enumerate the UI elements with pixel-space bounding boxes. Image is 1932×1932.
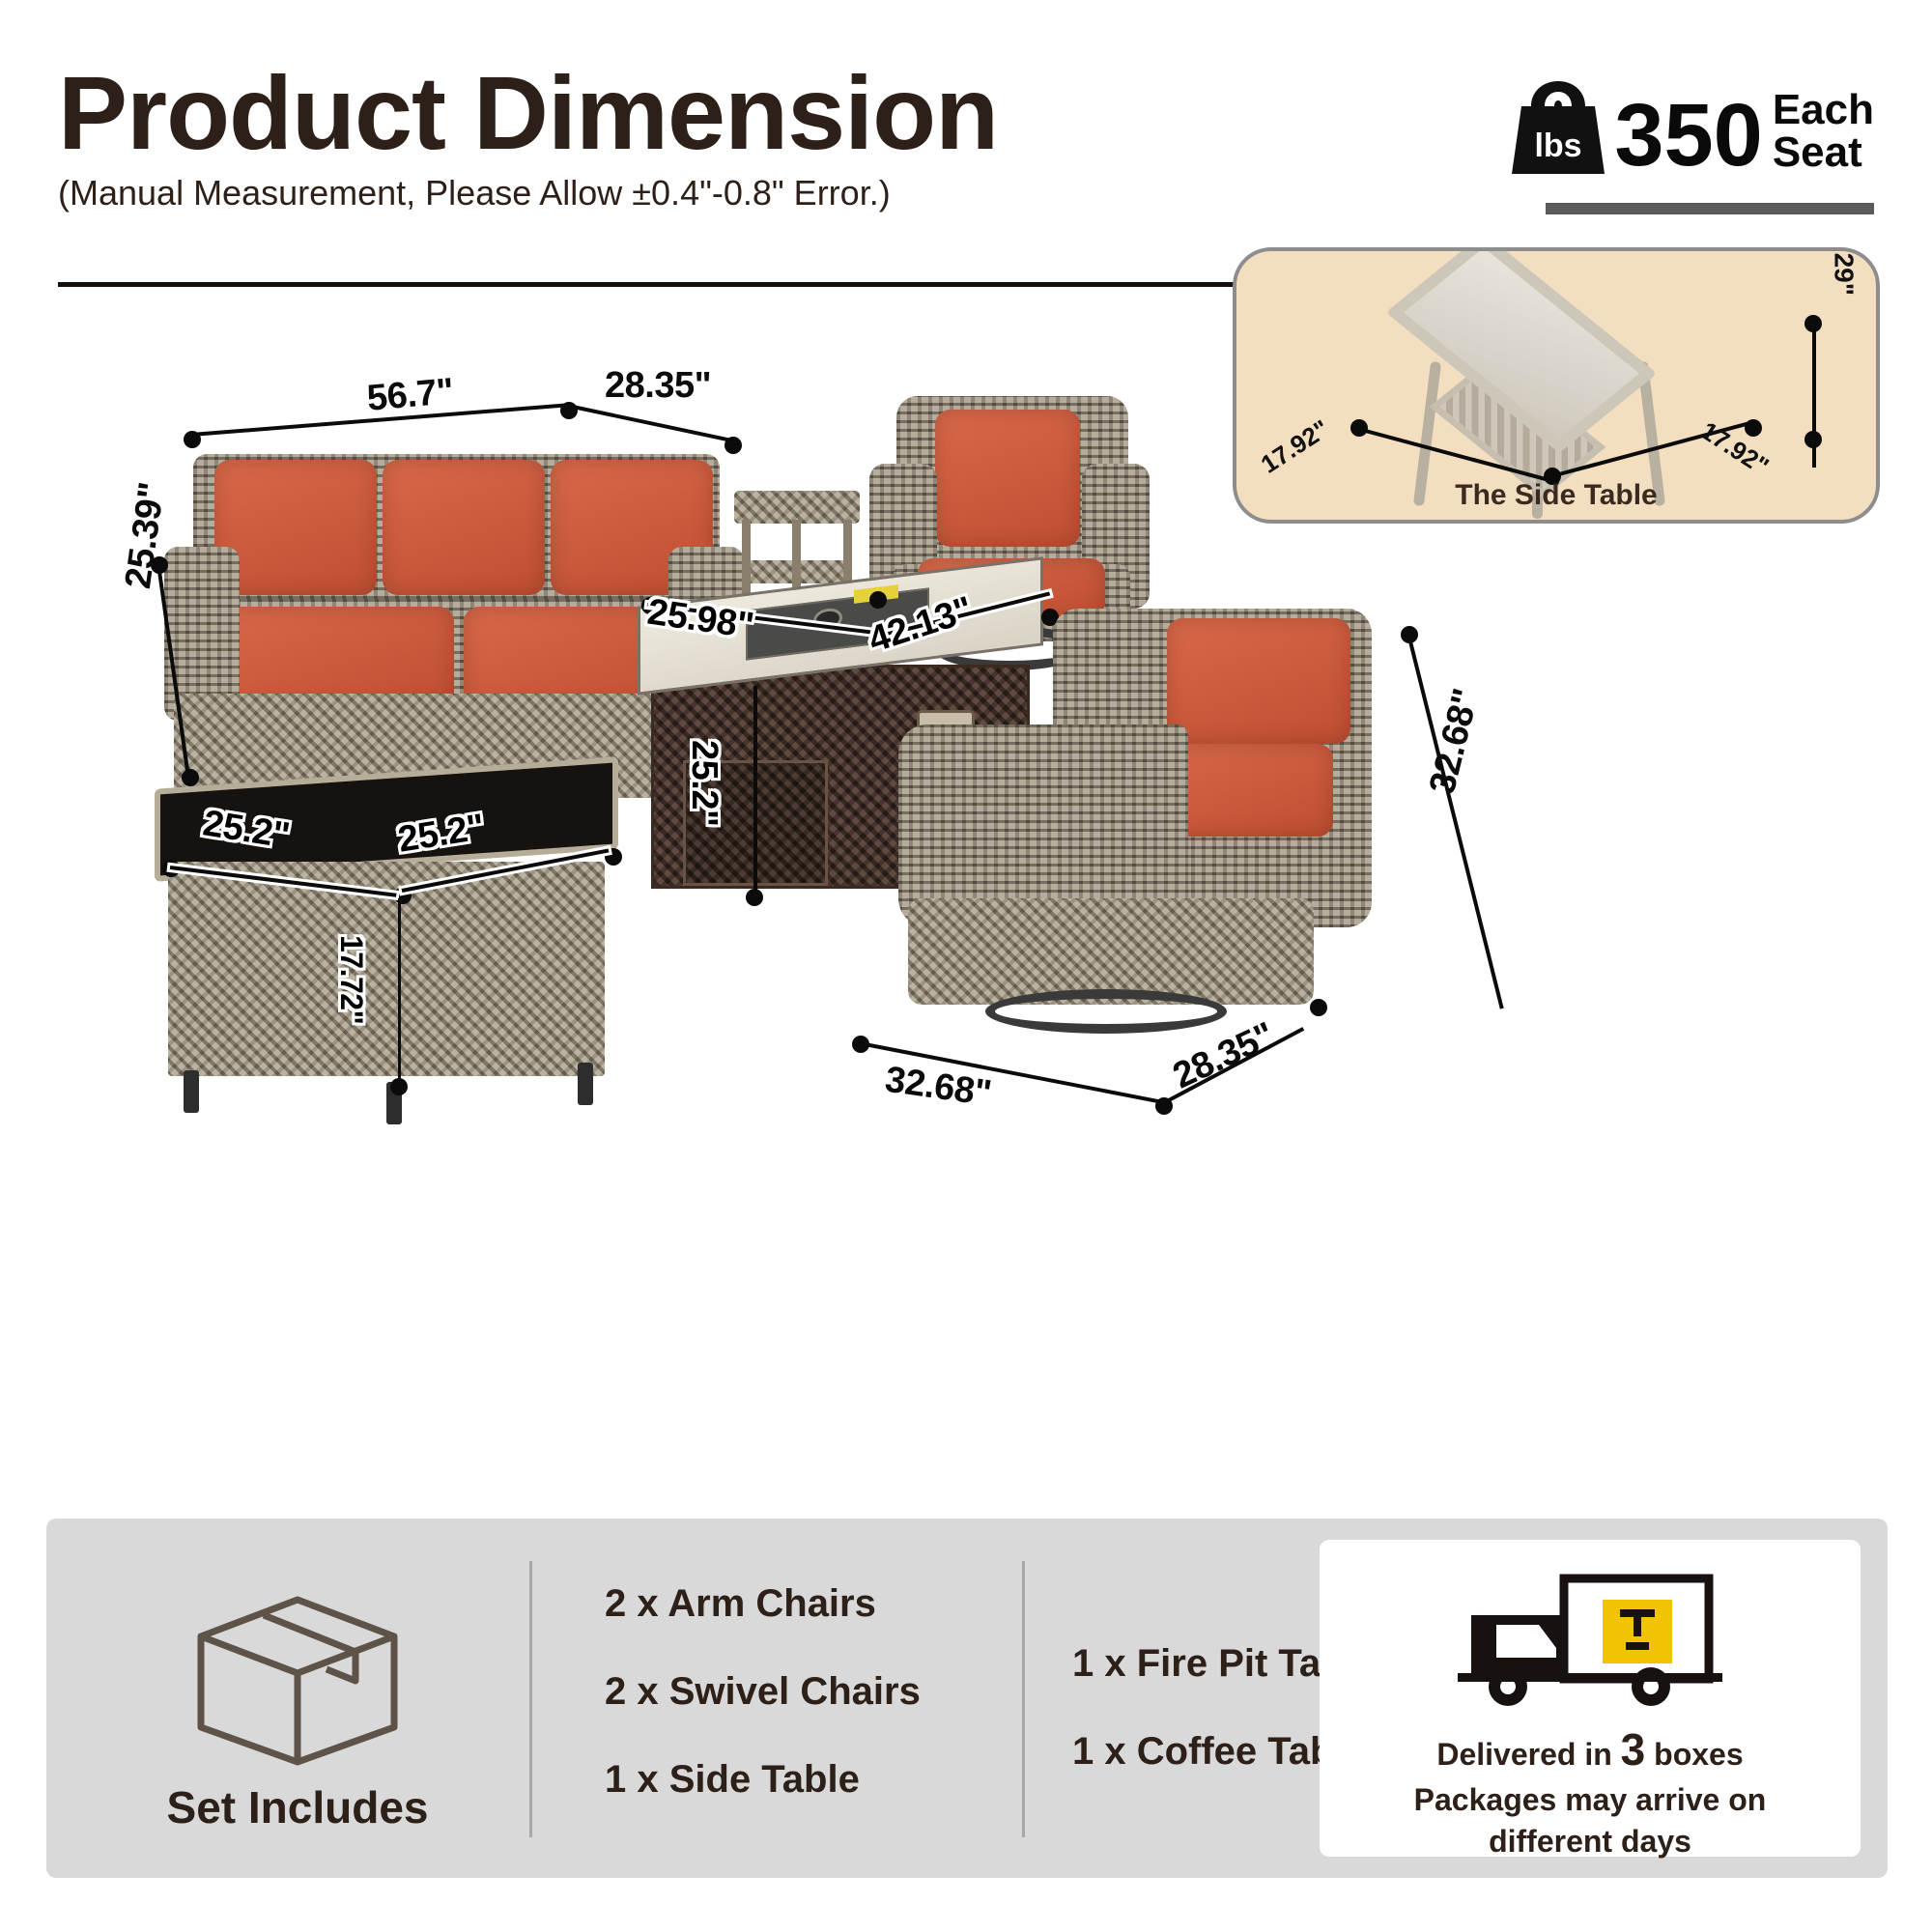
product-dimension-infographic: Product Dimension (Manual Measurement, P…: [0, 0, 1932, 1932]
furniture-scene: 56.7" 28.35" 25.39": [58, 319, 1874, 1188]
list-item: 2 x Arm Chairs: [605, 1582, 921, 1626]
header: Product Dimension (Manual Measurement, P…: [58, 58, 1874, 241]
coffee-table-leg: [184, 1070, 199, 1113]
weight-capacity-badge: lbs 350 Each Seat: [1512, 77, 1874, 178]
coffee-table-leg: [578, 1063, 593, 1105]
shipping-note-line-2: different days: [1489, 1824, 1691, 1859]
dim-endpoint-dot: [1310, 999, 1327, 1016]
swivel-chair-lower: [869, 609, 1372, 1072]
side-table-top-surface: [734, 491, 860, 524]
panel-divider: [1022, 1561, 1025, 1837]
dim-endpoint-dot: [390, 1078, 408, 1095]
included-items-column-one: 2 x Arm Chairs 2 x Swivel Chairs 1 x Sid…: [605, 1582, 921, 1846]
coffee-table-height-label: 17.72": [333, 935, 369, 1024]
weight-lbs-icon: lbs: [1512, 77, 1605, 178]
set-includes-panel: Set Includes 2 x Arm Chairs 2 x Swivel C…: [46, 1519, 1888, 1878]
dim-line-sofa-depth: [568, 404, 729, 441]
chair-arm-front: [898, 724, 1188, 927]
set-includes-label: Set Includes: [124, 1781, 471, 1833]
dim-endpoint-dot: [869, 591, 887, 609]
panel-divider: [529, 1561, 532, 1837]
svg-text:lbs: lbs: [1535, 128, 1582, 164]
badge-underline: [1546, 203, 1874, 214]
weight-value: 350: [1614, 94, 1763, 178]
weight-unit-text: Each Seat: [1773, 89, 1874, 178]
sofa-width-label: 56.7": [365, 371, 455, 420]
shipping-info-card: Delivered in 3 boxes Packages may arrive…: [1320, 1540, 1861, 1857]
chair-back-cushion: [1167, 618, 1350, 744]
chair-height-label: 32.68": [1422, 685, 1488, 798]
firepit-height-label: 25.2": [683, 740, 724, 826]
delivery-truck-icon: [1450, 1565, 1730, 1724]
sofa-depth-label: 28.35": [605, 365, 711, 407]
cardboard-box-icon: [172, 1573, 423, 1766]
list-item: 2 x Swivel Chairs: [605, 1670, 921, 1714]
box-count: 3: [1621, 1724, 1646, 1775]
shipping-note: Delivered in 3 boxes Packages may arrive…: [1320, 1719, 1861, 1862]
shipping-note-line-1: Packages may arrive on: [1414, 1782, 1767, 1817]
chair-back-cushion: [935, 410, 1080, 547]
sofa-back-cushion: [383, 460, 545, 595]
dim-line-coffee-height: [398, 898, 401, 1082]
list-item: 1 x Side Table: [605, 1758, 921, 1802]
boxes-suffix: boxes: [1654, 1737, 1743, 1772]
sofa-seat-cushion: [211, 607, 454, 707]
dim-line-firepit-height: [753, 686, 757, 895]
weight-each-label: Each: [1773, 89, 1874, 131]
swivel-base: [985, 989, 1227, 1034]
weight-seat-label: Seat: [1773, 131, 1874, 174]
delivered-in-prefix: Delivered in: [1436, 1737, 1611, 1772]
side-table-height-label: 19.29": [1828, 247, 1859, 296]
